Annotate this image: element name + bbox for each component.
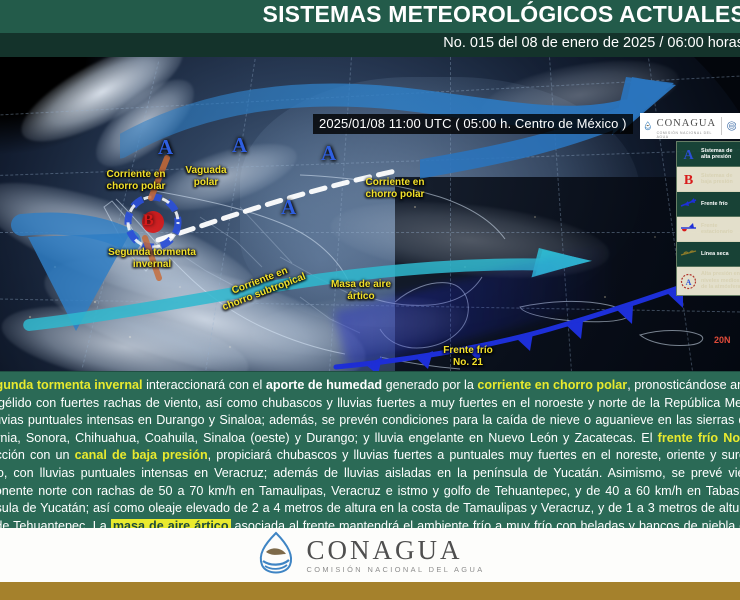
- bulletin-text-segment: interaccionará con el: [143, 378, 266, 392]
- letter-a-icon: A: [680, 146, 697, 163]
- legend-label-high-pressure: Sistemas de alta presión: [701, 148, 732, 161]
- high-pressure-marker-3: A: [281, 195, 296, 220]
- legend-label-upper-level-high: Alta presión en niveles medios de la atm…: [701, 271, 740, 290]
- legend-symbol-b: B: [684, 173, 693, 188]
- conagua-chip-word: CONAGUA: [657, 118, 717, 129]
- legend-label-cold-front: Frente frío: [701, 201, 728, 207]
- conagua-eagle-logo-icon: [255, 531, 297, 579]
- bulletin-body: La segunda tormenta invernal interaccion…: [0, 377, 740, 528]
- bulletin-text-segment: canal de baja presión: [75, 448, 208, 462]
- legend-label-stationary-front: Frente estacionario: [701, 223, 733, 236]
- bulletin-text-segment: aporte de humedad: [266, 378, 382, 392]
- header-bar: SISTEMAS METEOROLÓGICOS ACTUALES: [0, 0, 740, 33]
- legend-item-high-pressure: A Sistemas de alta presión: [677, 142, 740, 167]
- bulletin-text-segment: frente frío No. 21: [658, 431, 740, 445]
- dry-line-icon: [680, 246, 697, 263]
- svg-text:A: A: [686, 278, 692, 287]
- conagua-eagle-icon: [644, 116, 652, 136]
- bulletin-text-panel: La segunda tormenta invernal interaccion…: [0, 372, 740, 528]
- stationary-front-icon: [680, 221, 697, 238]
- cold-front-icon: [680, 196, 697, 213]
- legend-label-low-pressure: Sistemas de baja presión: [701, 173, 733, 186]
- legend-item-stationary-front: Frente estacionario: [677, 217, 740, 242]
- conagua-logo-chip: CONAGUA COMISIÓN NACIONAL DEL AGUA: [640, 113, 740, 139]
- legend-item-cold-front: Frente frío: [677, 192, 740, 217]
- legend-label-dry-line: Línea seca: [701, 251, 729, 257]
- bulletin-number: No. 015 del 08 de enero de 2025 / 06:00 …: [443, 35, 740, 51]
- label-frente-frio-21: Frente frío No. 21: [430, 345, 506, 368]
- map-legend: A Sistemas de alta presión B Sistemas de…: [676, 141, 740, 296]
- satellite-map[interactable]: A A A A B 20N 10N Corriente en chorro po…: [0, 57, 740, 372]
- footer-logo: CONAGUA COMISIÓN NACIONAL DEL AGUA: [255, 531, 484, 579]
- high-pressure-marker-2: A: [232, 133, 247, 158]
- high-pressure-marker-4: A: [321, 141, 336, 166]
- legend-item-upper-level-high: A Alta presión en niveles medios de la a…: [677, 267, 740, 295]
- high-pressure-marker-1: A: [158, 135, 173, 160]
- header-subbar: No. 015 del 08 de enero de 2025 / 06:00 …: [0, 33, 740, 57]
- lat-label-20n: 20N: [714, 335, 731, 345]
- bulletin-text-segment: generado por la: [382, 378, 477, 392]
- label-masa-de-aire-artico: Masa de aire ártico: [318, 279, 404, 302]
- conagua-chip-subtitle: COMISIÓN NACIONAL DEL AGUA: [657, 131, 717, 139]
- legend-symbol-a: A: [683, 148, 693, 163]
- legend-item-low-pressure: B Sistemas de baja presión: [677, 167, 740, 192]
- legend-item-dry-line: Línea seca: [677, 242, 740, 267]
- footer-conagua-subtitle: COMISIÓN NACIONAL DEL AGUA: [306, 565, 484, 574]
- bulletin-text-segment: segunda tormenta invernal: [0, 378, 143, 392]
- smn-seal-icon: [727, 116, 736, 136]
- bulletin-text-segment: corriente en chorro polar: [477, 378, 627, 392]
- footer-gold-bar: [0, 582, 740, 600]
- upper-level-high-icon: A: [680, 273, 697, 290]
- label-vaguada-polar: Vaguada polar: [170, 165, 242, 188]
- page-title: SISTEMAS METEOROLÓGICOS ACTUALES: [263, 1, 740, 28]
- footer-conagua-word: CONAGUA: [306, 535, 462, 565]
- weather-bulletin-page: SISTEMAS METEOROLÓGICOS ACTUALES No. 015…: [0, 0, 740, 600]
- low-pressure-marker: B: [143, 212, 154, 230]
- bulletin-text-segment: masa de aire ártico: [111, 519, 231, 528]
- letter-b-icon: B: [680, 171, 697, 188]
- footer: CONAGUA COMISIÓN NACIONAL DEL AGUA: [0, 528, 740, 582]
- map-timestamp: 2025/01/08 11:00 UTC ( 05:00 h. Centro d…: [313, 114, 633, 134]
- label-segunda-tormenta-invernal: Segunda tormenta invernal: [97, 247, 207, 270]
- label-corriente-chorro-polar-este: Corriente en chorro polar: [350, 177, 440, 200]
